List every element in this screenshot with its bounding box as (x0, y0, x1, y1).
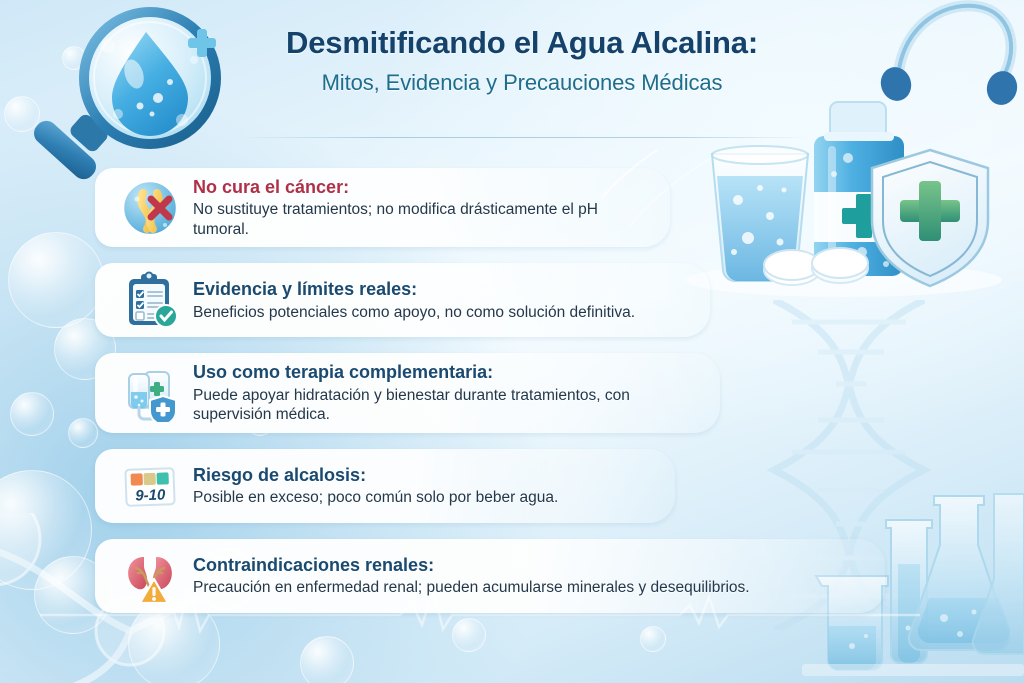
list-item-heading: No cura el cáncer: (193, 177, 633, 198)
ph-swatch-2 (144, 472, 156, 484)
ph-value-label: 9-10 (135, 486, 166, 504)
list-item-heading: Evidencia y límites reales: (193, 279, 635, 300)
list-item-heading: Riesgo de alcalosis: (193, 465, 558, 486)
list-item-heading: Contraindicaciones renales: (193, 555, 750, 576)
list-item: 9-10 Riesgo de alcalosis: Posible en exc… (95, 449, 675, 523)
list-item-body: No sustituye tratamientos; no modifica d… (193, 200, 633, 239)
list-item-heading: Uso como terapia complementaria: (193, 362, 673, 383)
list-item-text: Riesgo de alcalosis: Posible en exceso; … (193, 464, 558, 508)
page-title: Desmitificando el Agua Alcalina: (232, 26, 812, 61)
list-item: Uso como terapia complementaria: Puede a… (95, 353, 720, 432)
ph-swatch-3 (157, 472, 169, 484)
infographic-poster: Desmitificando el Agua Alcalina: Mitos, … (0, 0, 1024, 683)
list-item-body: Precaución en enfermedad renal; pueden a… (193, 578, 750, 598)
poster-header: Desmitificando el Agua Alcalina: Mitos, … (232, 26, 812, 96)
list-item: Contraindicaciones renales: Precaución e… (95, 539, 885, 613)
list-item: Evidencia y límites reales: Beneficios p… (95, 263, 710, 337)
list-item-body: Puede apoyar hidratación y bienestar dur… (193, 386, 673, 425)
list-item-text: Evidencia y límites reales: Beneficios p… (193, 278, 635, 322)
iv-drip-shield-icon (121, 364, 179, 422)
ph-strip-icon: 9-10 (121, 457, 179, 515)
ph-swatch-1 (131, 473, 143, 485)
header-divider (238, 137, 810, 138)
page-subtitle: Mitos, Evidencia y Precauciones Médicas (232, 70, 812, 96)
list-item-body: Posible en exceso; poco común solo por b… (193, 488, 558, 508)
list-item: No cura el cáncer: No sustituye tratamie… (95, 168, 670, 247)
clipboard-checklist-icon (121, 271, 179, 329)
list-item-text: No cura el cáncer: No sustituye tratamie… (193, 176, 633, 239)
kidneys-warning-icon (121, 547, 179, 605)
list-item-text: Uso como terapia complementaria: Puede a… (193, 361, 673, 424)
cancer-ribbon-crossed-icon (121, 179, 179, 237)
list-item-text: Contraindicaciones renales: Precaución e… (193, 554, 750, 598)
list-item-body: Beneficios potenciales como apoyo, no co… (193, 303, 635, 323)
points-list: No cura el cáncer: No sustituye tratamie… (95, 168, 955, 629)
